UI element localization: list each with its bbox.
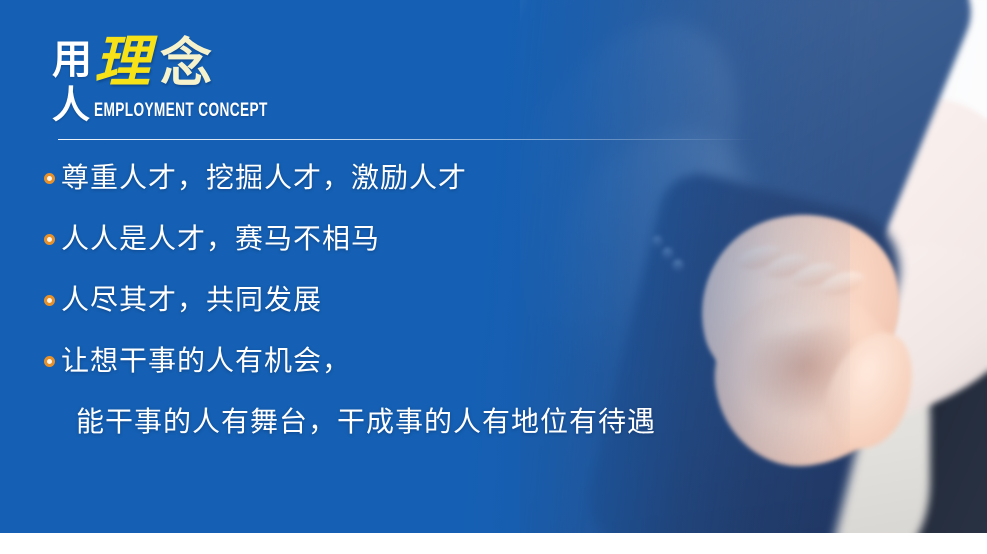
bullet-dot-icon (44, 173, 55, 184)
logo-subtitle-english: EMPLOYMENT CONCEPT (94, 100, 268, 122)
list-item: 尊重人才，挖掘人才，激励人才 (44, 158, 944, 198)
banner-content: 用 理 念 人 EMPLOYMENT CONCEPT 尊重人才，挖掘人才，激励人… (0, 0, 987, 533)
footer-white-strip (0, 533, 987, 554)
bullet-dot-icon (44, 234, 55, 245)
bullet-dot-icon (44, 295, 55, 306)
bullet-dot-icon (44, 356, 55, 367)
list-item-label: 人人是人才，赛马不相马 (61, 219, 380, 259)
list-item-label: 让想干事的人有机会， (61, 341, 351, 381)
list-item: 人人是人才，赛马不相马 (44, 219, 944, 259)
logo-divider (58, 139, 758, 140)
logo-char-nian: 念 (160, 38, 212, 90)
employment-concept-banner: 用 理 念 人 EMPLOYMENT CONCEPT 尊重人才，挖掘人才，激励人… (0, 0, 987, 533)
list-item-label: 尊重人才，挖掘人才，激励人才 (61, 158, 467, 198)
list-item-continuation: 能干事的人有舞台，干成事的人有地位有待遇 (76, 402, 944, 442)
list-item: 人尽其才，共同发展 (44, 280, 944, 320)
logo: 用 理 念 人 EMPLOYMENT CONCEPT (48, 36, 468, 132)
concept-list: 尊重人才，挖掘人才，激励人才 人人是人才，赛马不相马 人尽其才，共同发展 让想干… (44, 158, 944, 442)
list-item-label: 人尽其才，共同发展 (61, 280, 322, 320)
logo-char-li: 理 (94, 34, 150, 90)
logo-char-yong: 用 (52, 40, 92, 80)
logo-char-ren: 人 (52, 86, 90, 124)
list-item: 让想干事的人有机会， (44, 341, 944, 381)
